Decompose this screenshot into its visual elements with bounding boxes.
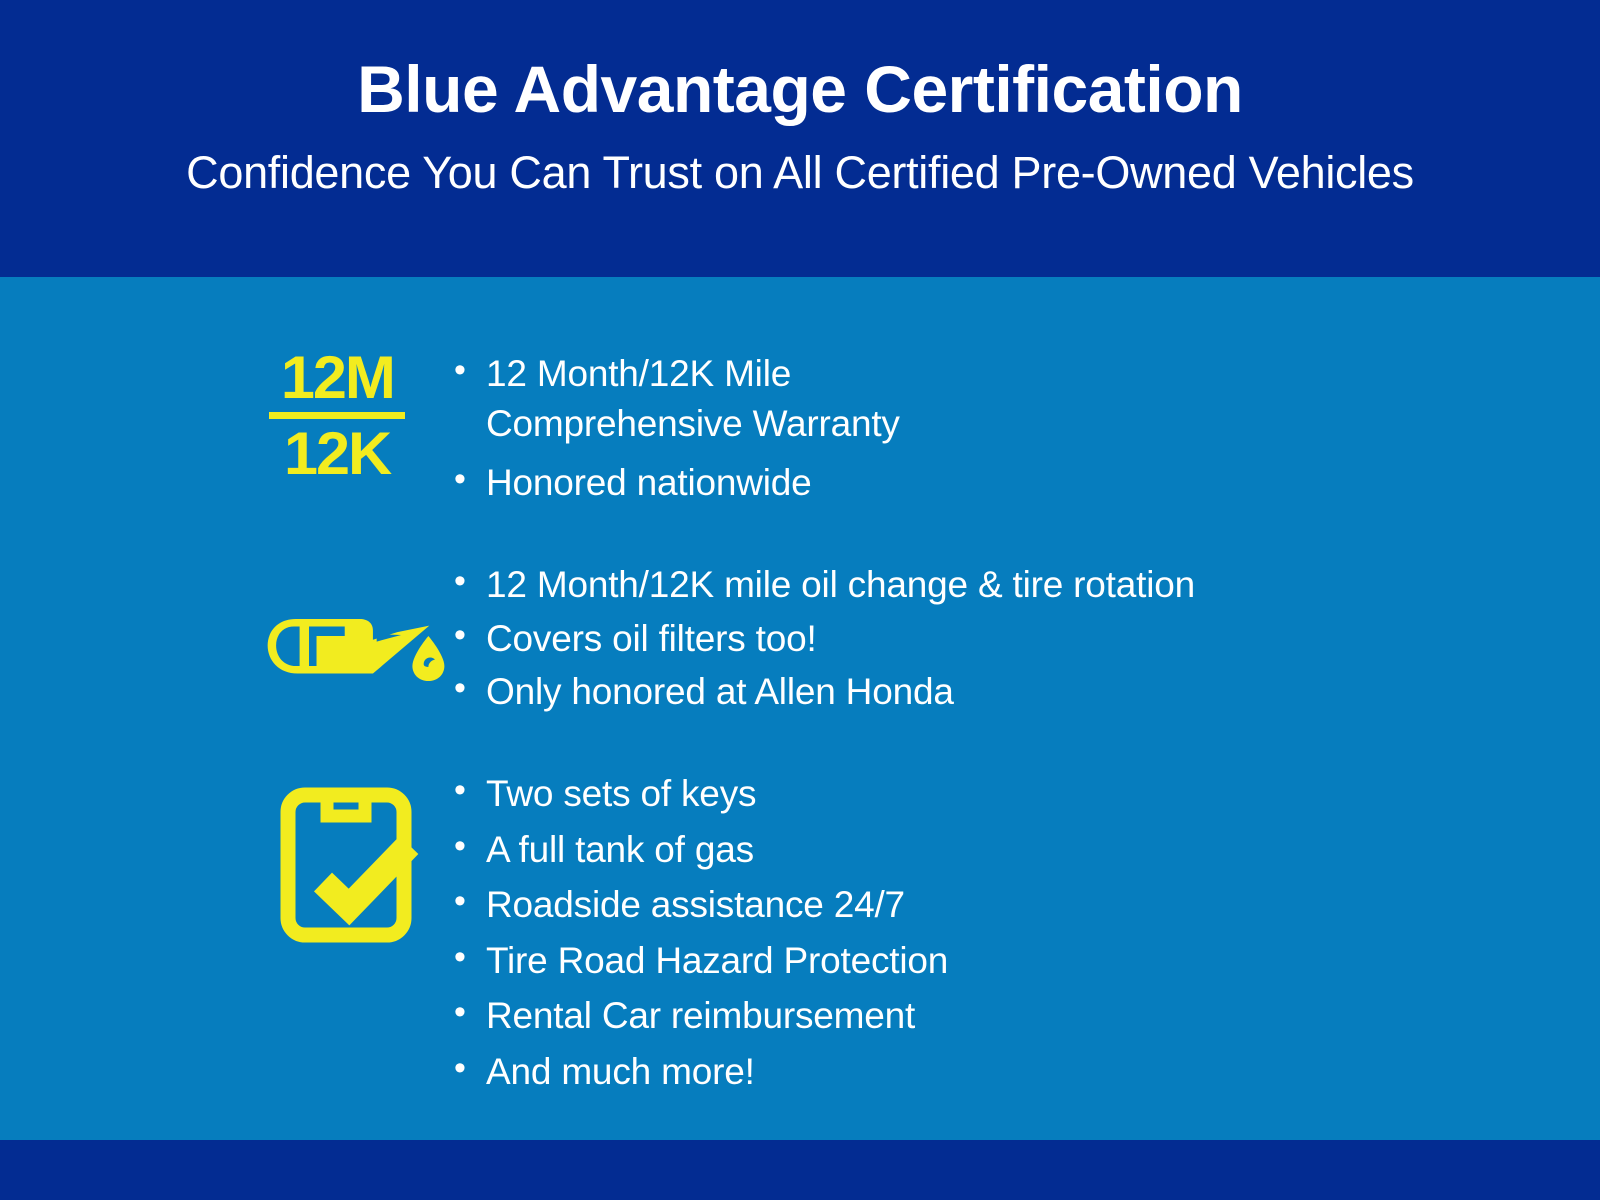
bullet-list-warranty: 12 Month/12K Mile Comprehensive Warranty… bbox=[450, 349, 900, 518]
feature-row-warranty: 12M 12K 12 Month/12K Mile Comprehensive … bbox=[262, 349, 900, 518]
list-item: Covers oil filters too! bbox=[450, 614, 1195, 664]
bullet-list-oil-change: 12 Month/12K mile oil change & tire rota… bbox=[450, 560, 1195, 721]
fraction-divider-line bbox=[269, 412, 405, 419]
icon-slot-warranty: 12M 12K bbox=[262, 349, 450, 482]
header-banner: Blue Advantage Certification Confidence … bbox=[0, 0, 1600, 277]
footer-bar bbox=[0, 1140, 1600, 1200]
list-item: Only honored at Allen Honda bbox=[450, 667, 1195, 717]
list-item: Tire Road Hazard Protection bbox=[450, 936, 948, 986]
list-item: Roadside assistance 24/7 bbox=[450, 880, 948, 930]
list-item: 12 Month/12K mile oil change & tire rota… bbox=[450, 560, 1195, 610]
twelve-month-twelve-k-fraction-icon: 12M 12K bbox=[262, 349, 412, 482]
blue-advantage-certification-slide: Blue Advantage Certification Confidence … bbox=[0, 0, 1600, 1200]
list-item: Rental Car reimbursement bbox=[450, 991, 948, 1041]
list-item: 12 Month/12K Mile Comprehensive Warranty bbox=[450, 349, 900, 448]
list-item: Two sets of keys bbox=[450, 769, 948, 819]
fraction-numerator-label: 12M bbox=[281, 349, 394, 406]
list-item: And much more! bbox=[450, 1047, 948, 1097]
list-item: A full tank of gas bbox=[450, 825, 948, 875]
icon-slot-extras bbox=[262, 769, 450, 943]
oil-can-icon bbox=[262, 580, 450, 690]
list-item: Honored nationwide bbox=[450, 458, 900, 508]
page-subtitle: Confidence You Can Trust on All Certifie… bbox=[186, 150, 1414, 195]
fraction-denominator-label: 12K bbox=[284, 425, 390, 482]
feature-row-extras: Two sets of keys A full tank of gas Road… bbox=[262, 769, 948, 1102]
feature-row-oil-change: 12 Month/12K mile oil change & tire rota… bbox=[262, 560, 1195, 721]
features-section: 12M 12K 12 Month/12K Mile Comprehensive … bbox=[0, 277, 1600, 1140]
page-title: Blue Advantage Certification bbox=[357, 56, 1243, 122]
bullet-list-extras: Two sets of keys A full tank of gas Road… bbox=[450, 769, 948, 1102]
icon-slot-oil bbox=[262, 560, 450, 690]
clipboard-check-icon bbox=[280, 783, 430, 943]
